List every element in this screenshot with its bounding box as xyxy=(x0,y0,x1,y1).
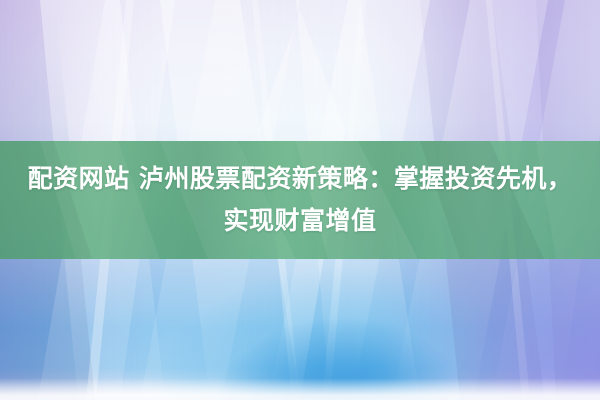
headline-line-1: 配资网站 泸州股票配资新策略：掌握投资先机， xyxy=(28,158,573,200)
background-footer-strip xyxy=(0,378,600,400)
banner-image: 配资网站 泸州股票配资新策略：掌握投资先机， 实现财富增值 xyxy=(0,0,600,400)
headline-line-2: 实现财富增值 xyxy=(223,200,376,242)
banner-headline: 配资网站 泸州股票配资新策略：掌握投资先机， 实现财富增值 xyxy=(0,141,600,259)
